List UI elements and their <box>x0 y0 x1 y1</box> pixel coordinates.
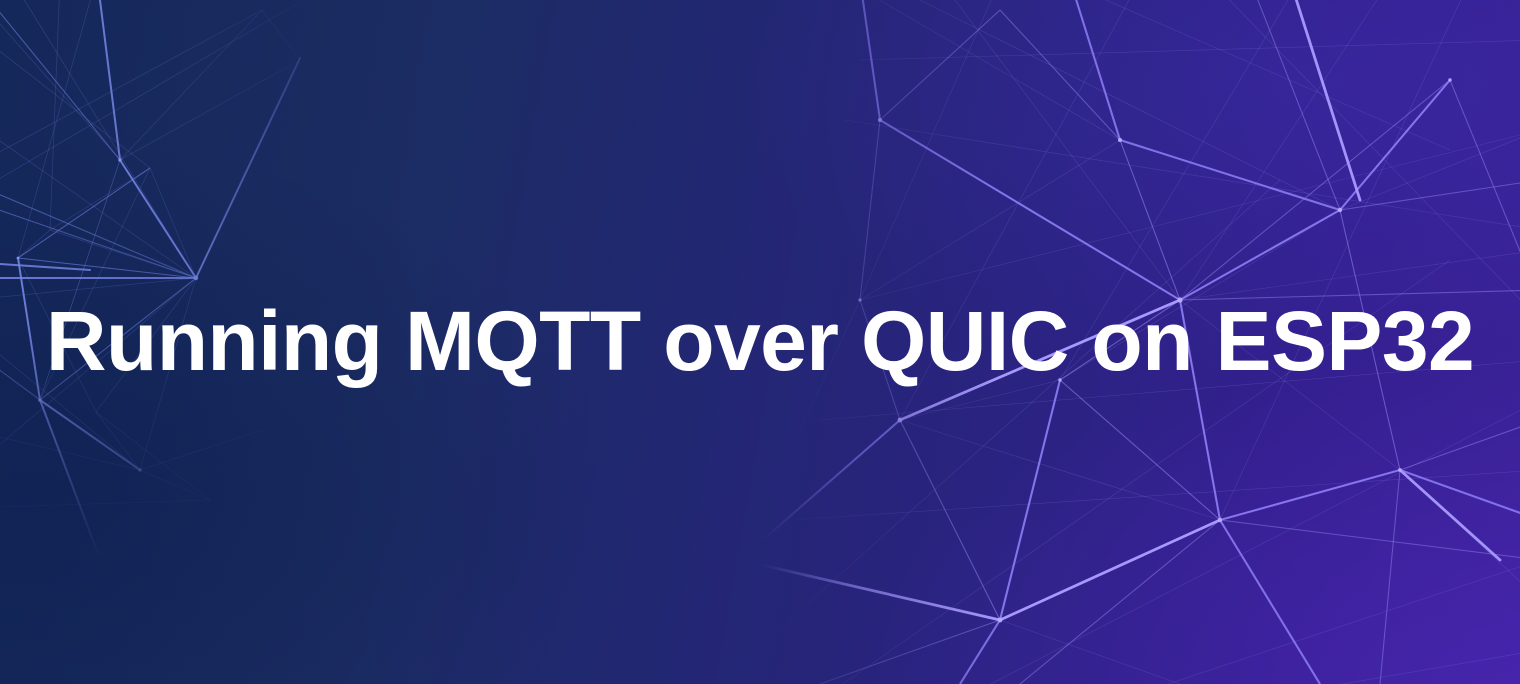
hero-banner: Running MQTT over QUIC on ESP32 <box>0 0 1520 684</box>
polygonal-network-right <box>0 0 1520 684</box>
